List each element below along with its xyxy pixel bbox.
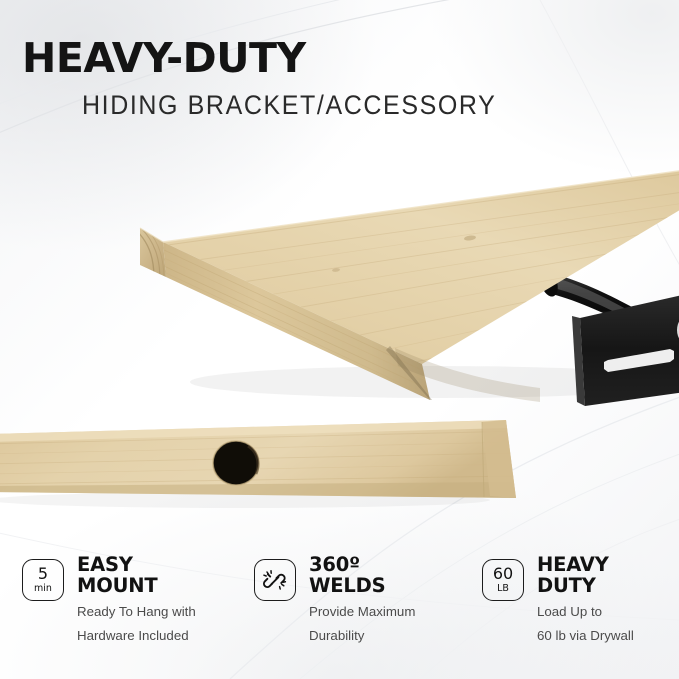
feature-title-line1: EASY xyxy=(77,554,196,575)
feature-desc-line2: Hardware Included xyxy=(77,627,196,644)
badge-unit: LB xyxy=(497,584,509,594)
page-subtitle: HIDING BRACKET/ACCESSORY xyxy=(82,93,662,120)
feature-title-line2: WELDS xyxy=(309,575,415,596)
clock-minutes-icon: 5 min xyxy=(22,559,64,601)
feature-desc-line2: Durability xyxy=(309,627,415,644)
product-marketing-image: HEAVY-DUTY HIDING BRACKET/ACCESSORY 5 mi… xyxy=(0,0,679,679)
chain-weld-icon xyxy=(254,559,296,601)
badge-value: 5 xyxy=(38,566,48,582)
badge-unit: min xyxy=(34,584,52,594)
feature-title-line2: MOUNT xyxy=(77,575,196,596)
headline-block: HEAVY-DUTY HIDING BRACKET/ACCESSORY xyxy=(22,38,662,118)
feature-item-easy-mount: 5 min EASY MOUNT Ready To Hang with Hard… xyxy=(22,548,254,668)
feature-list: 5 min EASY MOUNT Ready To Hang with Hard… xyxy=(0,548,679,668)
feature-desc-line1: Provide Maximum xyxy=(309,603,415,620)
badge-value: 60 xyxy=(493,566,513,582)
feature-text: EASY MOUNT Ready To Hang with Hardware I… xyxy=(77,548,196,644)
feature-text: 360º WELDS Provide Maximum Durability xyxy=(309,548,415,644)
feature-title-line1: 360º xyxy=(309,554,415,575)
page-title: HEAVY-DUTY xyxy=(22,38,662,79)
weight-capacity-icon: 60 LB xyxy=(482,559,524,601)
feature-desc-line1: Load Up to xyxy=(537,603,634,620)
feature-item-heavy-duty: 60 LB HEAVY DUTY Load Up to 60 lb via Dr… xyxy=(482,548,657,668)
feature-text: HEAVY DUTY Load Up to 60 lb via Drywall xyxy=(537,548,634,644)
feature-title-line1: HEAVY xyxy=(537,554,634,575)
feature-title-line2: DUTY xyxy=(537,575,634,596)
chain-link-glyph xyxy=(262,567,288,593)
feature-desc-line1: Ready To Hang with xyxy=(77,603,196,620)
feature-item-360-welds: 360º WELDS Provide Maximum Durability xyxy=(254,548,482,668)
feature-desc-line2: 60 lb via Drywall xyxy=(537,627,634,644)
